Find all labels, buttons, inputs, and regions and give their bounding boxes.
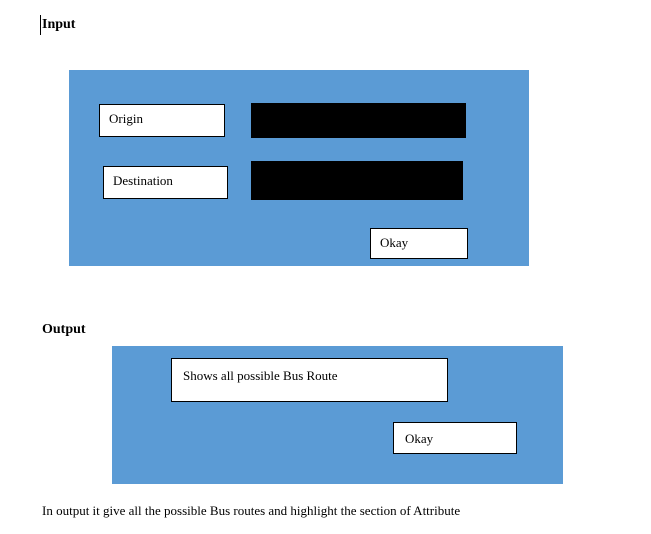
destination-label-box[interactable]: Destination [103,166,228,199]
destination-input-field[interactable] [251,161,463,200]
output-section-heading: Output [42,322,86,338]
okay-button-input[interactable]: Okay [370,228,468,259]
caption-text: In output it give all the possible Bus r… [42,503,460,519]
text-cursor [40,15,41,35]
okay-button-output[interactable]: Okay [393,422,517,454]
origin-label-box[interactable]: Origin [99,104,225,137]
bus-route-result-box[interactable]: Shows all possible Bus Route [171,358,448,402]
origin-input-field[interactable] [251,103,466,138]
input-section-heading: Input [42,17,75,33]
